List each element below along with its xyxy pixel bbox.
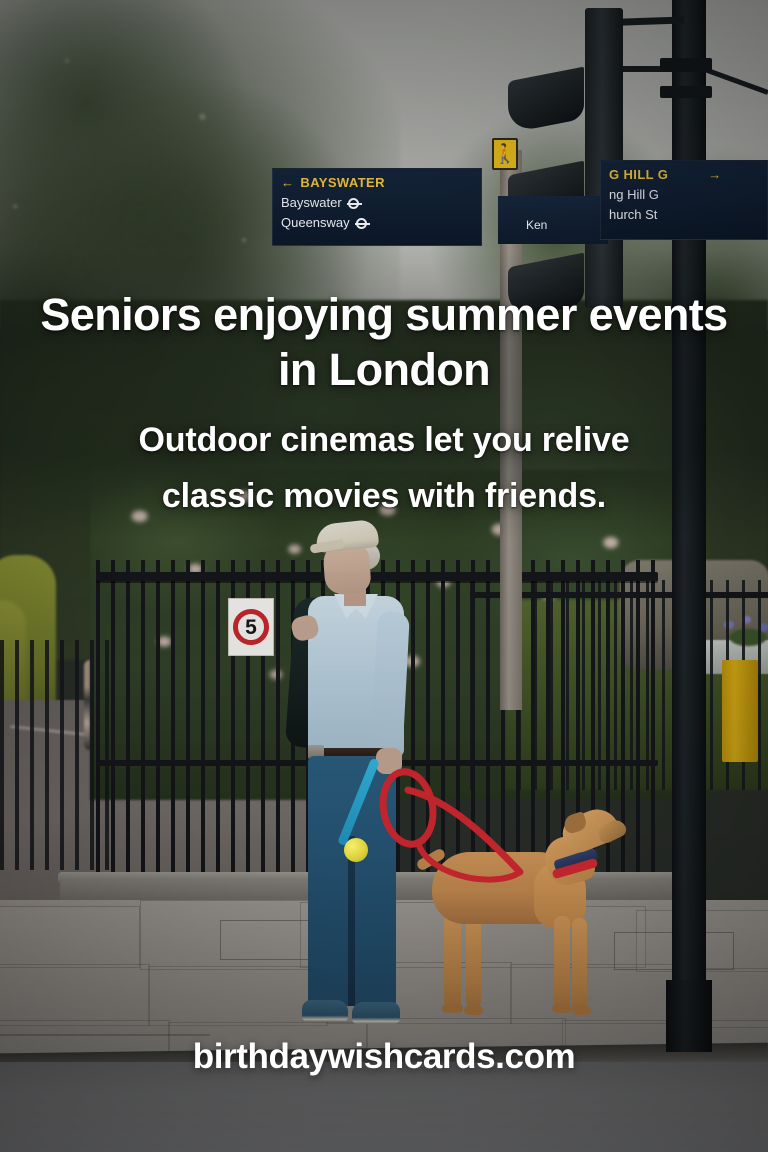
- subtitle: Outdoor cinemas let you relive classic m…: [0, 412, 768, 525]
- social-image-card: 🚶 ← BAYSWATER Bayswater Queensway Ken G …: [0, 0, 768, 1152]
- text-overlay: Seniors enjoying summer events in London…: [0, 0, 768, 1152]
- headline-line-1: Seniors enjoying summer events: [2, 288, 766, 343]
- subtitle-line-2: classic movies with friends.: [0, 468, 768, 524]
- subtitle-line-1: Outdoor cinemas let you relive: [0, 412, 768, 468]
- watermark-website: birthdaywishcards.com: [0, 1037, 768, 1077]
- headline: Seniors enjoying summer events in London: [0, 288, 768, 398]
- headline-line-2: in London: [2, 343, 766, 398]
